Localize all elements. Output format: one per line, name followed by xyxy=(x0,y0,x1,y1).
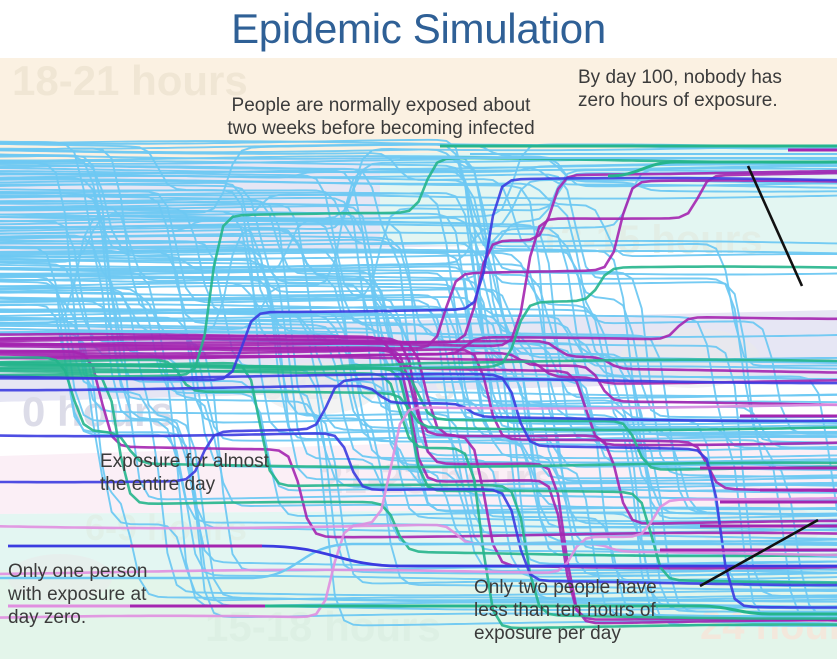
chart-plot-area: 18-21 hours12-15 hours9-12 hours0 hours2… xyxy=(0,58,837,659)
page-title: Epidemic Simulation xyxy=(231,8,606,50)
annotation-day-100-leader-line xyxy=(748,166,802,286)
annotation-ten-hours: Only two people have less than ten hours… xyxy=(474,576,704,646)
annotation-entire-day: Exposure for almost the entire day xyxy=(100,450,310,496)
annotations: People are normally exposed about two we… xyxy=(0,58,837,659)
annotation-day-zero: Only one person with exposure at day zer… xyxy=(8,560,198,630)
annotation-two-weeks: People are normally exposed about two we… xyxy=(196,94,566,140)
title-bar: Epidemic Simulation xyxy=(0,0,837,58)
annotation-ten-hours-leader-line xyxy=(700,520,818,586)
screenshot-root: Epidemic Simulation 18-21 hours12-15 hou… xyxy=(0,0,837,659)
annotation-day-100: By day 100, nobody has zero hours of exp… xyxy=(578,66,828,112)
